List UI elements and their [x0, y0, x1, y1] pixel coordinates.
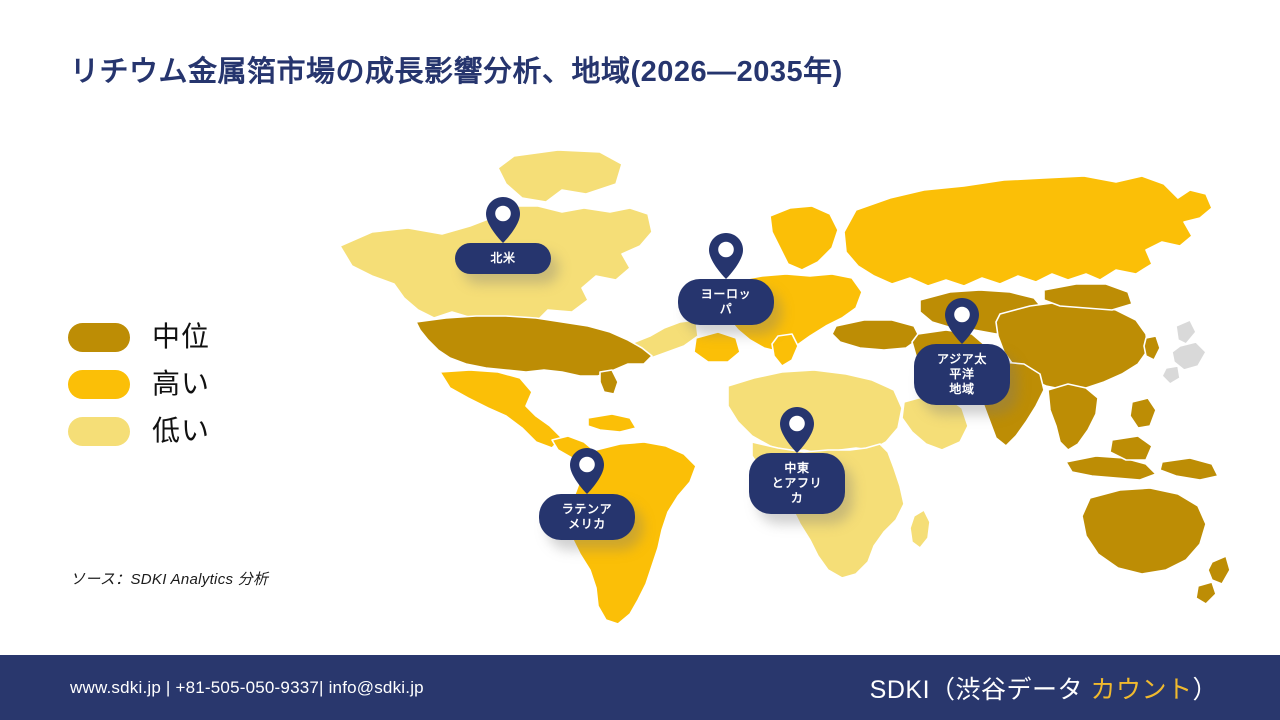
region-borneo — [1110, 436, 1152, 460]
region-scandinavia — [770, 206, 838, 270]
legend-item-low: 低い — [68, 408, 298, 454]
map-pin-icon — [945, 298, 979, 344]
region-new-zealand — [1208, 556, 1230, 584]
footer-bar: www.sdki.jp | +81-505-050-9337| info@sdk… — [0, 655, 1280, 720]
slide-canvas: リチウム金属箔市場の成長影響分析、地域(2026—2035年) 中位 高い 低い… — [0, 0, 1280, 720]
region-italy — [772, 334, 798, 366]
region-korea — [1144, 336, 1160, 360]
region-greenland — [498, 150, 622, 202]
brand-prefix: SDKI（渋谷データ — [870, 676, 1091, 704]
pin-label-europe[interactable]: ヨーロッパ — [678, 279, 774, 325]
region-north-africa — [728, 370, 902, 454]
legend-swatch-medium — [68, 323, 130, 352]
legend-item-high: 高い — [68, 361, 298, 407]
legend-label-medium: 中位 — [152, 323, 210, 351]
region-russia — [844, 176, 1212, 286]
map-pin-icon — [570, 448, 604, 494]
legend-label-high: 高い — [152, 370, 210, 398]
region-japan-kyushu — [1162, 366, 1180, 384]
region-mexico — [440, 370, 562, 448]
region-southeast-asia — [1048, 384, 1098, 450]
brand-accent: カウント — [1090, 676, 1192, 704]
pin-label-north-america[interactable]: 北米 — [455, 243, 551, 274]
region-caribbean — [588, 414, 636, 432]
legend: 中位 高い 低い — [68, 314, 298, 455]
region-united-states — [416, 316, 652, 376]
legend-swatch-high — [68, 370, 130, 399]
page-title: リチウム金属箔市場の成長影響分析、地域(2026—2035年) — [70, 54, 1190, 92]
legend-label-low: 低い — [152, 417, 210, 445]
region-australia — [1082, 488, 1206, 574]
pin-label-middle-east-africa[interactable]: 中東 とアフリカ — [749, 453, 845, 514]
region-turkey — [832, 320, 920, 350]
source-note: ソース：SDKI Analytics 分析 — [70, 568, 268, 589]
region-new-zealand-south — [1196, 582, 1216, 604]
legend-swatch-low — [68, 417, 130, 446]
footer-contact[interactable]: www.sdki.jp | +81-505-050-9337| info@sdk… — [70, 678, 424, 698]
region-japan — [1176, 320, 1196, 344]
map-pin-icon — [709, 233, 743, 279]
pin-label-latin-america[interactable]: ラテンアメリカ — [539, 494, 635, 540]
world-map — [300, 150, 1230, 630]
world-map-svg — [300, 150, 1230, 630]
region-madagascar — [910, 510, 930, 548]
region-philippines — [1130, 398, 1156, 428]
map-pin-icon — [486, 197, 520, 243]
footer-brand: SDKI（渋谷データ カウント） — [870, 670, 1218, 706]
map-pin-icon — [780, 407, 814, 453]
legend-item-medium: 中位 — [68, 314, 298, 360]
region-new-guinea — [1160, 458, 1218, 480]
brand-suffix: ） — [1192, 676, 1218, 704]
region-florida — [600, 370, 618, 394]
pin-label-asia-pacific[interactable]: アジア太平洋 地域 — [914, 344, 1010, 405]
region-iberia — [694, 332, 740, 362]
